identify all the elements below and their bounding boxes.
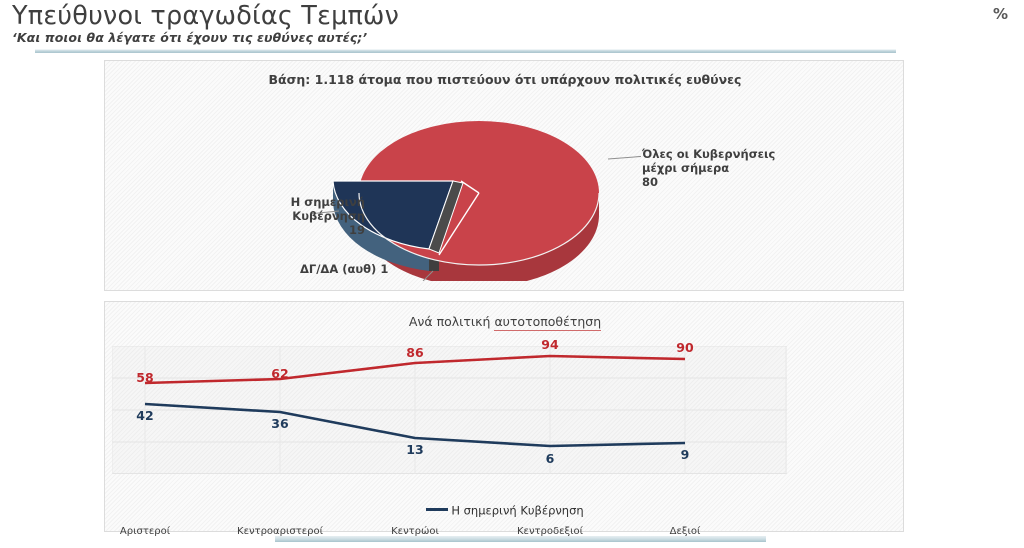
data-label-current-government-2: 13 — [406, 442, 423, 457]
pie-callout-all-governments-line1: Όλες οι Κυβερνήσεις — [642, 147, 775, 161]
page-subtitle: ‘Και ποιοι θα λέγατε ότι έχουν τις ευθύν… — [12, 30, 367, 45]
line-chart-title-prefix: Ανά πολιτική — [409, 314, 495, 329]
line-chart-plot-area: 58 62 86 94 90 42 36 13 6 9 Αριστεροί Κε… — [112, 346, 787, 474]
legend-label-current-government: Η σημερινή Κυβέρνηση — [451, 504, 583, 518]
line-chart-panel: Ανά πολιτική αυτοτοποθέτηση — [104, 301, 904, 532]
x-axis-label-0: Αριστεροί — [120, 526, 170, 537]
pie-callout-current-government: Η σημερινή Κυβέρνηση 19 — [245, 195, 365, 237]
pie-callout-current-government-line2: Κυβέρνηση — [292, 209, 365, 223]
line-chart-title-spellchecked-word: αυτοτοποθέτηση — [494, 314, 601, 331]
legend-swatch-current-government — [426, 508, 448, 511]
line-chart-legend: Η σημερινή Κυβέρνηση — [105, 503, 905, 518]
slide-header: Υπεύθυνοι τραγωδίας Τεμπών ‘Και ποιοι θα… — [0, 0, 1024, 56]
data-label-all-governments-0: 58 — [136, 370, 153, 385]
footer-divider — [275, 536, 766, 542]
pie-callout-all-governments-line2: μέχρι σήμερα — [642, 161, 729, 175]
pie-callout-dk-da: ΔΓ/ΔΑ (αυθ) 1 — [300, 262, 388, 276]
leader-line-all-governments — [608, 151, 641, 159]
pie-callout-all-governments-value: 80 — [642, 175, 775, 189]
data-label-all-governments-1: 62 — [271, 366, 288, 381]
pie-callout-all-governments: Όλες οι Κυβερνήσεις μέχρι σήμερα 80 — [642, 147, 775, 189]
pie-chart-panel: Βάση: 1.118 άτομα που πιστεύουν ότι υπάρ… — [104, 60, 904, 291]
pie-callout-current-government-value: 19 — [245, 223, 365, 237]
data-label-all-governments-4: 90 — [676, 340, 693, 355]
data-label-current-government-0: 42 — [136, 408, 153, 423]
data-label-current-government-1: 36 — [271, 416, 288, 431]
header-divider — [35, 49, 896, 53]
page-title: Υπεύθυνοι τραγωδίας Τεμπών — [12, 1, 399, 31]
data-label-current-government-4: 9 — [681, 447, 690, 462]
percent-unit-label: % — [993, 5, 1008, 23]
data-label-all-governments-2: 86 — [406, 345, 423, 360]
data-label-current-government-3: 6 — [546, 451, 555, 466]
line-chart-title: Ανά πολιτική αυτοτοποθέτηση — [105, 314, 905, 329]
pie-base-label: Βάση: 1.118 άτομα που πιστεύουν ότι υπάρ… — [105, 72, 905, 87]
data-label-all-governments-3: 94 — [541, 337, 558, 352]
pie-callout-current-government-line1: Η σημερινή — [291, 195, 365, 209]
